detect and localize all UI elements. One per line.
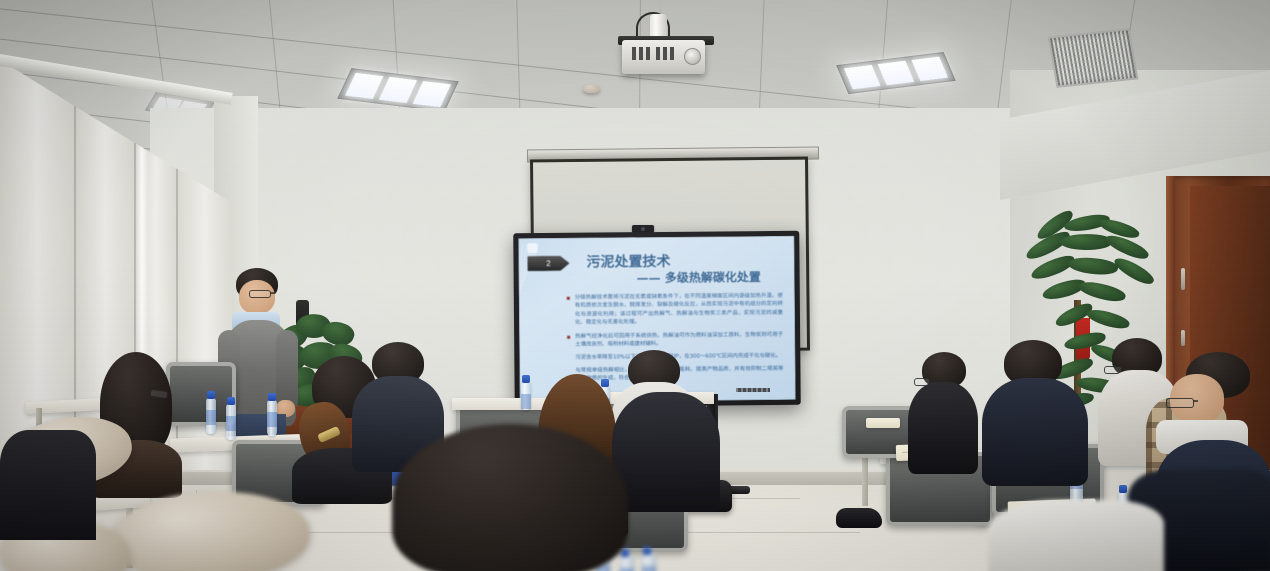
torso bbox=[908, 382, 978, 474]
slide-logo-mark bbox=[527, 243, 537, 253]
slide-bullet: 分级热解技术是将污泥在无氧或缺氧条件下，在不同温度梯度区间内逐级加热升温，使有机… bbox=[567, 292, 783, 328]
door-handle[interactable] bbox=[1181, 330, 1185, 346]
display-indicator-lights bbox=[736, 388, 770, 392]
foreground-audience-member bbox=[392, 424, 628, 571]
hvac-vent-icon bbox=[1048, 28, 1139, 88]
glasses-icon bbox=[1166, 398, 1194, 408]
slide-bullet: 热解气经净化后可回用于系统供热，热解油可作为燃料油深加工原料，生物炭则可用于土壤… bbox=[567, 331, 783, 350]
slide-subtitle: —— 多级热解碳化处置 bbox=[637, 268, 761, 286]
torso bbox=[612, 392, 720, 512]
audience-member bbox=[982, 340, 1088, 480]
water-bottle[interactable] bbox=[206, 398, 216, 434]
door-handle[interactable] bbox=[1181, 268, 1185, 290]
torso bbox=[988, 500, 1164, 571]
ceiling-projector bbox=[622, 0, 722, 80]
shoe bbox=[836, 508, 882, 528]
foreground-audience-member bbox=[988, 500, 1164, 571]
notebook bbox=[866, 418, 900, 428]
torso bbox=[982, 378, 1088, 486]
water-bottle[interactable] bbox=[226, 404, 236, 440]
smoke-detector-icon bbox=[583, 84, 600, 93]
ceiling-light-panel bbox=[337, 68, 458, 112]
audience-member bbox=[0, 430, 96, 540]
hair bbox=[392, 424, 628, 571]
water-bottle[interactable] bbox=[642, 554, 656, 571]
water-bottle[interactable] bbox=[267, 400, 277, 436]
glasses-icon bbox=[249, 290, 271, 298]
ceiling-light-panel bbox=[836, 52, 955, 94]
audience-member bbox=[612, 392, 720, 512]
classroom-photo: 2 污泥处置技术 —— 多级热解碳化处置 分级热解技术是将污泥在无氧或缺氧条件下… bbox=[0, 0, 1270, 571]
audience-member bbox=[908, 352, 978, 468]
